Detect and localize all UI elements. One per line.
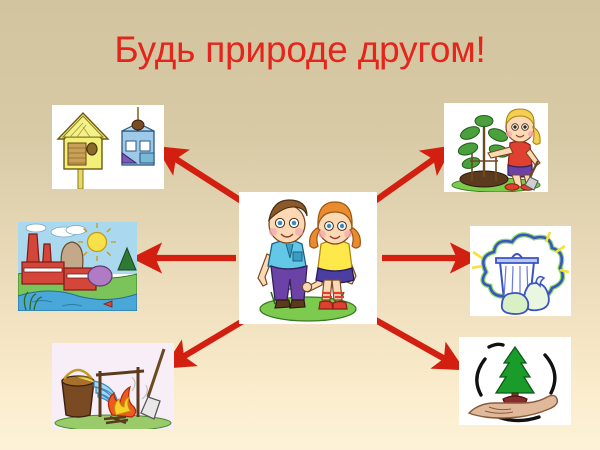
birdhouse-door-panel xyxy=(68,143,86,165)
node-image-girl-planting-tree[interactable] xyxy=(444,103,548,192)
arrow-to-birdhouse xyxy=(168,154,246,204)
node-image-factory-pollution-landscape[interactable] xyxy=(18,222,137,311)
storage-dome xyxy=(88,266,112,286)
node-image-trash-can-and-bags[interactable] xyxy=(470,226,571,316)
boy-figure xyxy=(258,200,307,308)
node-image-extinguish-campfire[interactable] xyxy=(52,343,174,429)
node-image-birdhouse-and-feeder[interactable] xyxy=(52,105,164,189)
fir-tree xyxy=(496,347,534,401)
bird xyxy=(132,120,144,130)
arrow-to-campfire xyxy=(176,318,248,361)
birdhouse-entrance xyxy=(87,143,97,155)
center-image-children-holding-hands[interactable] xyxy=(239,192,377,324)
slide-canvas: Будь природе другом! xyxy=(0,0,600,450)
node-image-hand-protecting-fir-tree[interactable] xyxy=(459,337,571,425)
factory-building-main xyxy=(22,262,64,284)
girl-figure xyxy=(306,202,360,309)
arrow-to-planting xyxy=(372,154,441,203)
water-bucket xyxy=(62,370,96,417)
arrow-to-savetree xyxy=(372,318,452,363)
sapling xyxy=(457,116,510,182)
joined-hands xyxy=(302,282,311,291)
